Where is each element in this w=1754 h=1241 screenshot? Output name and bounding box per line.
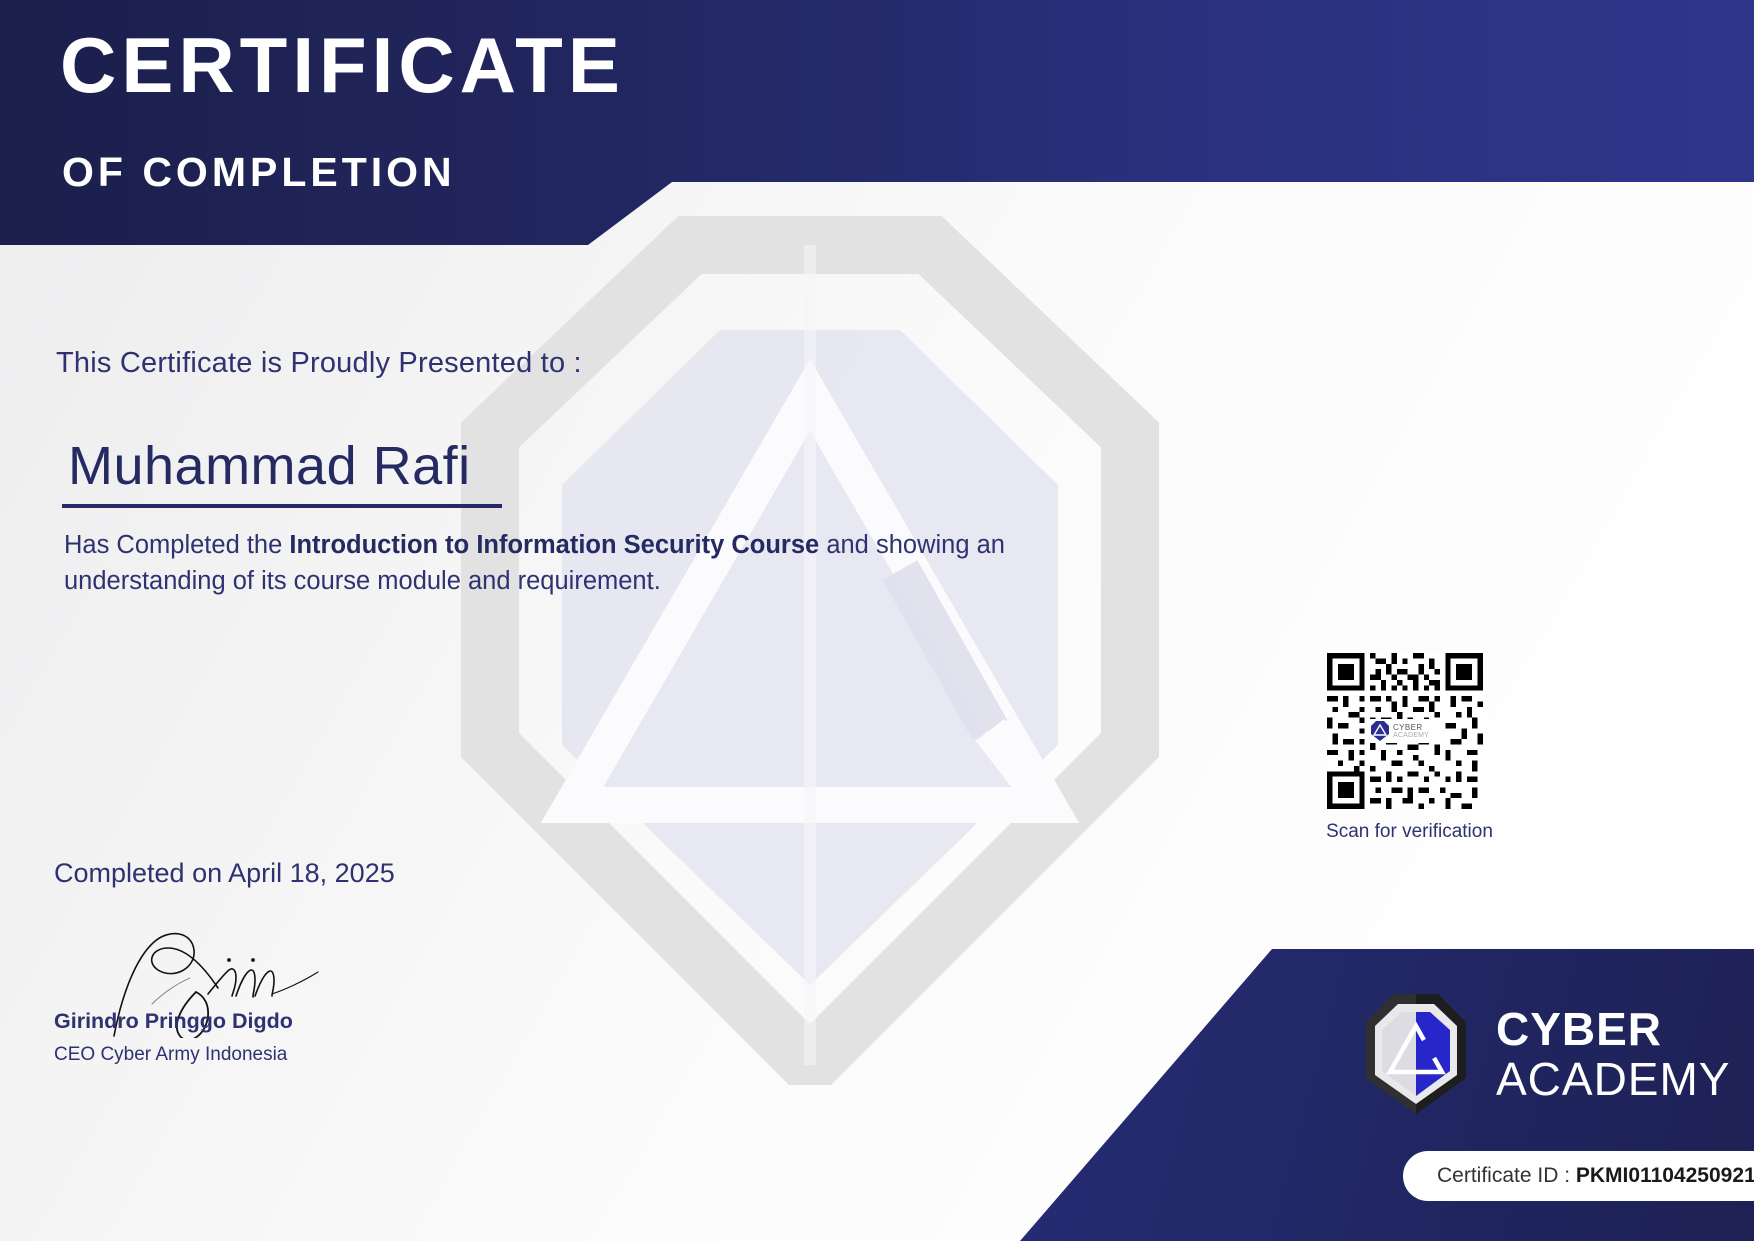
qr-logo-line1: CYBER — [1393, 724, 1429, 732]
signer-title: CEO Cyber Army Indonesia — [54, 1044, 287, 1066]
qr-shield-icon — [1370, 720, 1390, 742]
certificate-canvas: CERTIFICATE OF COMPLETION This Certifica… — [0, 0, 1754, 1241]
cyber-academy-shield-watermark-icon — [430, 185, 1190, 1085]
certificate-id-badge: Certificate ID : PKMI01104250921 — [1403, 1151, 1754, 1201]
recipient-underline — [62, 504, 502, 508]
brand-name-line2: ACADEMY — [1496, 1056, 1730, 1102]
qr-code-icon[interactable]: CYBER ACADEMY — [1327, 653, 1483, 809]
page-subtitle: OF COMPLETION — [62, 152, 456, 193]
recipient-name: Muhammad Rafi — [62, 437, 502, 502]
qr-logo-line2: ACADEMY — [1393, 732, 1429, 739]
course-name: Introduction to Information Security Cou… — [289, 531, 819, 559]
qr-caption: Scan for verification — [1322, 821, 1497, 843]
signer-name: Girindro Pringgo Digdo — [54, 1009, 293, 1034]
presented-to-label: This Certificate is Proudly Presented to… — [56, 347, 582, 380]
verification-block: CYBER ACADEMY Scan for verification — [1327, 653, 1497, 843]
certificate-id-label: Certificate ID : — [1437, 1164, 1576, 1187]
brand-name-line1: CYBER — [1496, 1006, 1730, 1052]
course-statement: Has Completed the Introduction to Inform… — [64, 527, 1024, 599]
brand-lockup: CYBER ACADEMY — [1362, 990, 1730, 1118]
course-statement-prefix: Has Completed the — [64, 531, 289, 559]
cyber-academy-shield-logo-icon — [1362, 990, 1470, 1118]
completion-date: Completed on April 18, 2025 — [54, 858, 395, 889]
qr-embedded-logo: CYBER ACADEMY — [1367, 719, 1443, 743]
recipient-block: Muhammad Rafi — [62, 437, 502, 508]
brand-wordmark: CYBER ACADEMY — [1496, 1006, 1730, 1102]
page-title: CERTIFICATE — [60, 26, 625, 104]
certificate-id-value: PKMI01104250921 — [1576, 1164, 1754, 1187]
